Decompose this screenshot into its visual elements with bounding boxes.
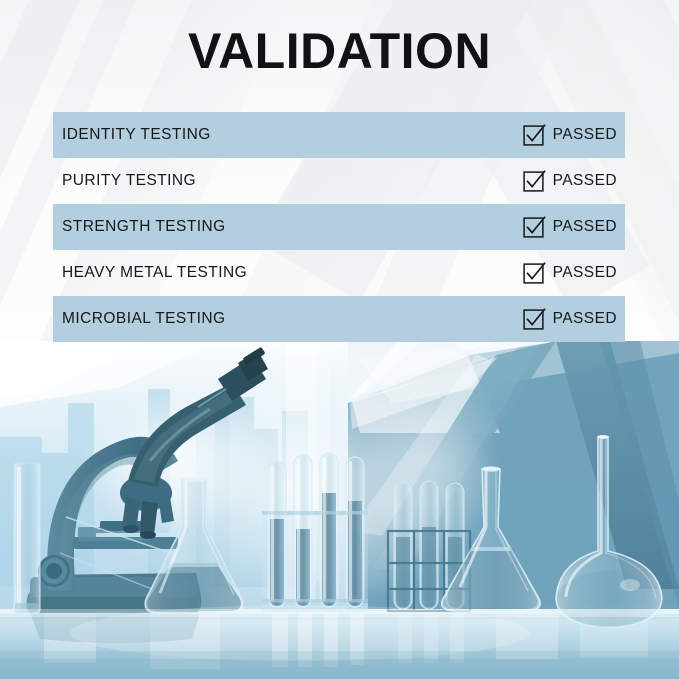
status-badge: PASSED	[553, 172, 617, 190]
validation-table: IDENTITY TESTING PASSED PURITY TESTING	[53, 112, 625, 342]
test-name-label: PURITY TESTING	[62, 172, 196, 190]
table-row: STRENGTH TESTING PASSED	[53, 204, 625, 250]
table-row: PURITY TESTING PASSED	[53, 158, 625, 204]
status-cell: PASSED	[523, 158, 625, 204]
table-row: MICROBIAL TESTING PASSED	[53, 296, 625, 342]
test-name-label: MICROBIAL TESTING	[62, 310, 226, 328]
status-badge: PASSED	[553, 310, 617, 328]
checkbox-checked-icon[interactable]	[523, 309, 544, 330]
table-row: IDENTITY TESTING PASSED	[53, 112, 625, 158]
test-name-label: IDENTITY TESTING	[62, 126, 211, 144]
status-badge: PASSED	[553, 264, 617, 282]
table-row: HEAVY METAL TESTING PASSED	[53, 250, 625, 296]
checkbox-checked-icon[interactable]	[523, 125, 544, 146]
checkbox-checked-icon[interactable]	[523, 263, 544, 284]
laboratory-photo	[0, 341, 679, 679]
status-cell: PASSED	[523, 204, 625, 250]
checkbox-checked-icon[interactable]	[523, 171, 544, 192]
poster-canvas: VALIDATION IDENTITY TESTING PASSED PURIT…	[0, 0, 679, 679]
checkbox-checked-icon[interactable]	[523, 217, 544, 238]
status-badge: PASSED	[553, 126, 617, 144]
test-name-label: HEAVY METAL TESTING	[62, 264, 247, 282]
test-name-label: STRENGTH TESTING	[62, 218, 226, 236]
status-badge: PASSED	[553, 218, 617, 236]
status-cell: PASSED	[523, 112, 625, 158]
page-title: VALIDATION	[0, 26, 679, 76]
status-cell: PASSED	[523, 296, 625, 342]
status-cell: PASSED	[523, 250, 625, 296]
